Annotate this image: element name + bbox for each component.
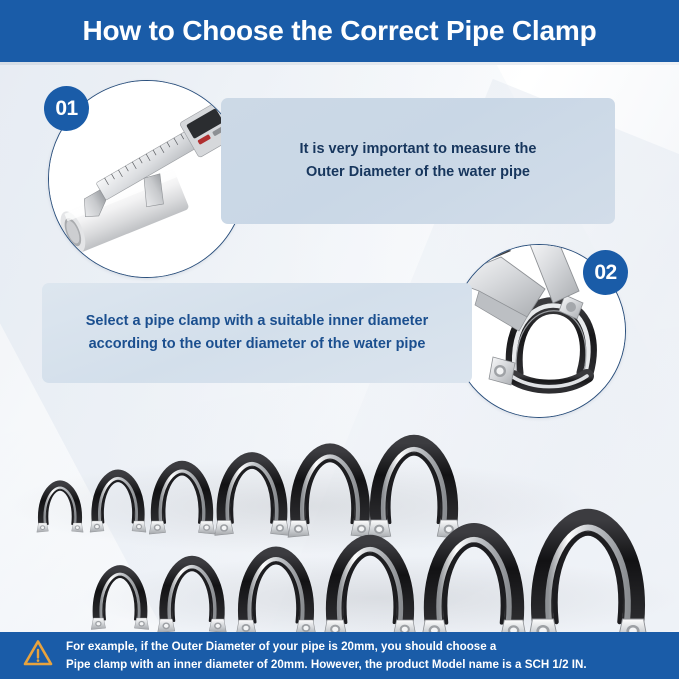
step-2-badge: 02 (583, 250, 628, 295)
step-1-text-line-2: Outer Diameter of the water pipe (306, 161, 530, 184)
header-banner: How to Choose the Correct Pipe Clamp (0, 0, 679, 62)
step-1-text-panel: It is very important to measure the Oute… (221, 98, 615, 224)
infographic-page: How to Choose the Correct Pipe Clamp (0, 0, 679, 679)
page-title: How to Choose the Correct Pipe Clamp (83, 15, 597, 47)
header-underline (0, 62, 679, 65)
step-2-text-line-2: according to the outer diameter of the w… (89, 333, 426, 356)
footer-text: For example, if the Outer Diameter of yo… (66, 638, 587, 674)
footer-note-bar: For example, if the Outer Diameter of yo… (0, 632, 679, 679)
step-1-text-line-1: It is very important to measure the (300, 138, 537, 161)
pipe-clamps-illustration (0, 386, 679, 634)
footer-line-1: For example, if the Outer Diameter of yo… (66, 638, 587, 656)
product-showcase (0, 386, 679, 634)
footer-line-2: Pipe clamp with an inner diameter of 20m… (66, 656, 587, 674)
warning-triangle-icon (22, 638, 54, 673)
step-1-badge: 01 (44, 86, 89, 131)
step-2-text-panel: Select a pipe clamp with a suitable inne… (42, 283, 472, 383)
step-2-text-line-1: Select a pipe clamp with a suitable inne… (86, 310, 428, 333)
